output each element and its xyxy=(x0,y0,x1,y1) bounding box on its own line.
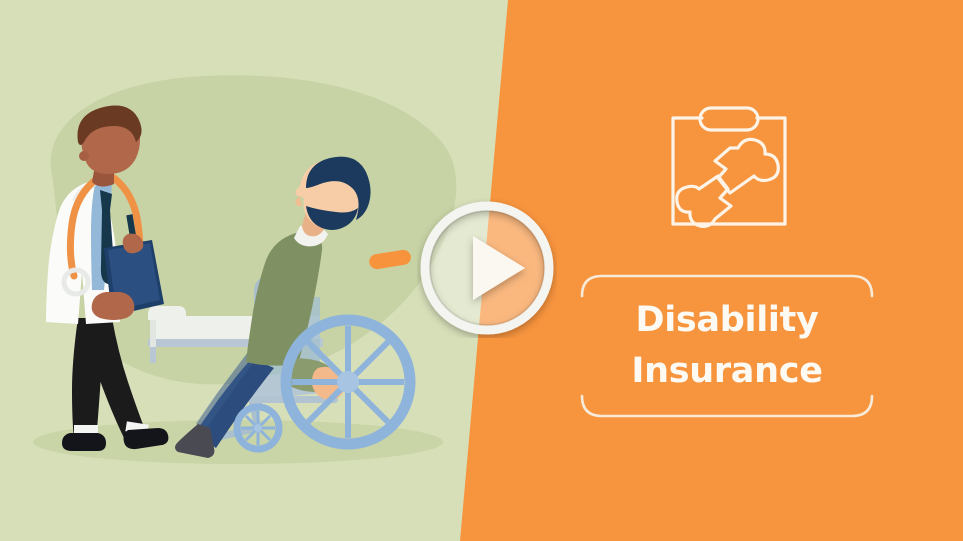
play-button[interactable] xyxy=(417,198,557,338)
wheelchair-caster-wheel xyxy=(237,407,279,449)
video-thumbnail: Disability Insurance xyxy=(0,0,963,541)
wheelchair-large-wheel xyxy=(286,320,410,444)
